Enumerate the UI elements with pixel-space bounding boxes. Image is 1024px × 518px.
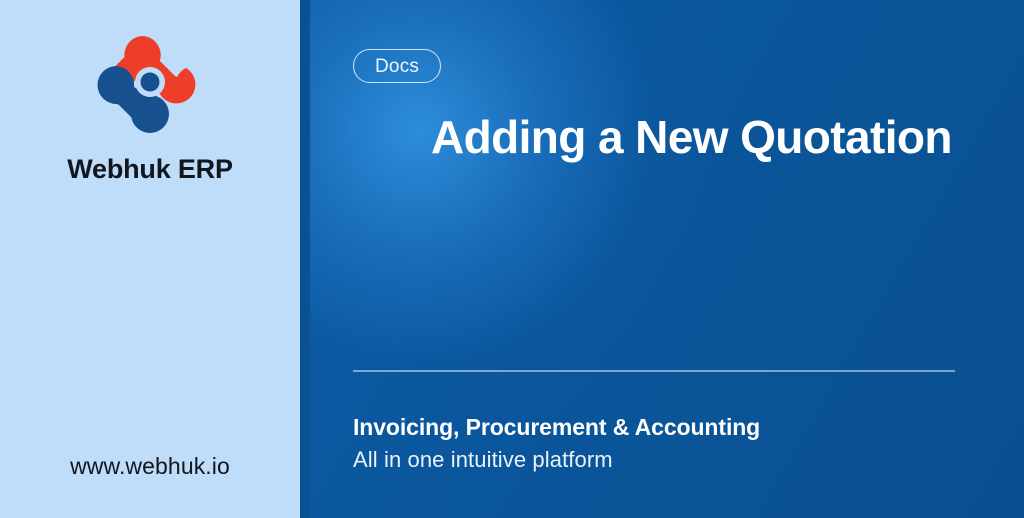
hero-panel: Docs Adding a New Quotation Invoicing, P… bbox=[300, 0, 1024, 518]
panel-divider-edge bbox=[300, 0, 310, 518]
brand-panel: Webhuk ERP www.webhuk.io bbox=[0, 0, 300, 518]
brand-url[interactable]: www.webhuk.io bbox=[0, 453, 300, 480]
hero-divider bbox=[353, 370, 955, 372]
docs-badge[interactable]: Docs bbox=[353, 49, 441, 83]
hero-footer: Invoicing, Procurement & Accounting All … bbox=[353, 413, 973, 473]
brand-name: Webhuk ERP bbox=[67, 154, 233, 185]
footer-subline: All in one intuitive platform bbox=[353, 446, 973, 474]
page-title: Adding a New Quotation bbox=[431, 112, 971, 164]
footer-headline: Invoicing, Procurement & Accounting bbox=[353, 413, 973, 442]
molecule-logo-icon bbox=[90, 26, 210, 138]
banner-canvas: Webhuk ERP www.webhuk.io Docs Adding a N… bbox=[0, 0, 1024, 518]
